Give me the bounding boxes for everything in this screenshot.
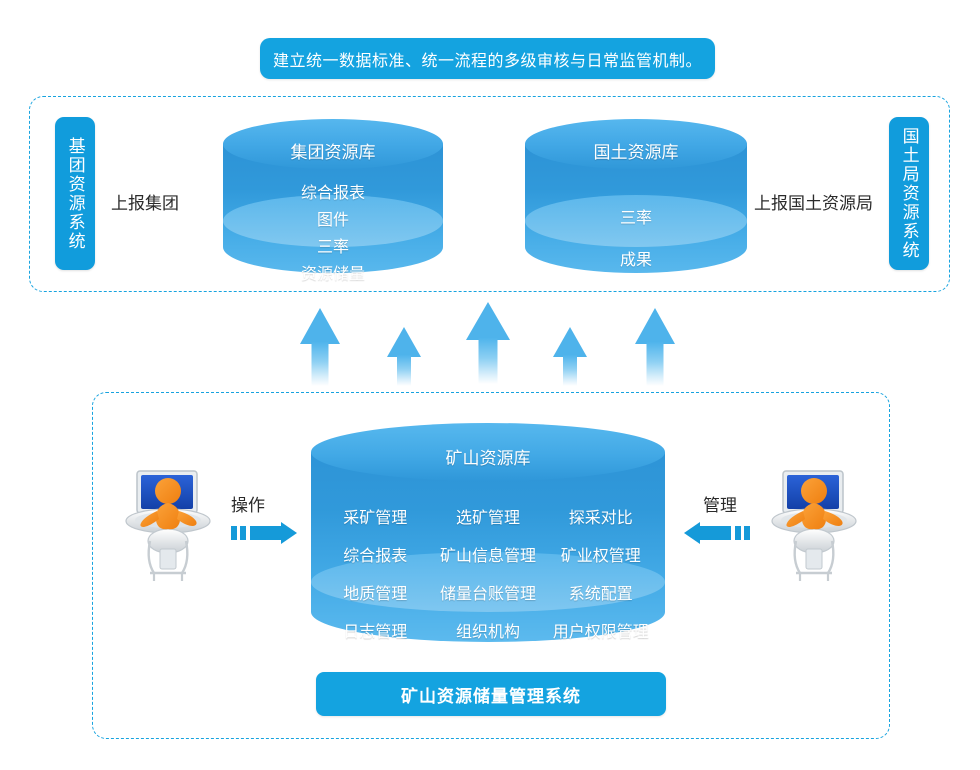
- sidebar-tab-group-resource-system[interactable]: 基团资源系统: [55, 117, 95, 270]
- user-at-computer-icon-right: [766, 465, 862, 585]
- arrow-bar: [700, 526, 731, 540]
- sidebar-tab-land-resource-system[interactable]: 国土局资源系统: [889, 117, 929, 270]
- arrow-shaft: [397, 355, 411, 386]
- cylinder-title-land: 国土资源库: [524, 138, 748, 163]
- user-at-computer-glyph: [120, 465, 216, 585]
- arrow-head-icon: [387, 327, 421, 357]
- arrow-head-icon: [466, 302, 510, 340]
- arrow-bar: [250, 526, 281, 540]
- module-item[interactable]: 日志管理: [322, 618, 428, 642]
- flow-arrow-manage: [684, 522, 750, 544]
- flow-arrow-up-2: [387, 327, 421, 386]
- arrow-head-icon: [684, 522, 700, 544]
- top-banner-text: 建立统一数据标准、统一流程的多级审核与日常监管机制。: [273, 47, 702, 71]
- module-item[interactable]: 系统配置: [548, 580, 654, 604]
- module-item[interactable]: 组织机构: [428, 618, 547, 642]
- user-at-computer-icon-left: [120, 465, 216, 585]
- module-item[interactable]: 用户权限管理: [548, 618, 654, 642]
- sidebar-tab-land-label: 国土局资源系统: [899, 127, 918, 260]
- module-item[interactable]: 采矿管理: [322, 504, 428, 528]
- arrow-dash: [744, 526, 750, 540]
- arrow-shaft: [647, 342, 664, 386]
- arrow-shaft: [563, 355, 577, 386]
- cylinder-item: 资源储量: [222, 261, 444, 288]
- module-item[interactable]: 矿业权管理: [548, 542, 654, 566]
- system-title-text: 矿山资源储量管理系统: [401, 682, 581, 707]
- user-at-computer-glyph: [766, 465, 862, 585]
- arrow-shaft: [479, 338, 498, 384]
- module-item[interactable]: 矿山信息管理: [428, 542, 547, 566]
- cylinder-item: 三率: [222, 234, 444, 261]
- flow-label-operate: 操作: [231, 491, 265, 516]
- arrow-dash: [735, 526, 741, 540]
- flow-label-report-to-group: 上报集团: [111, 189, 179, 214]
- database-cylinder-mine-resource: 矿山资源库 采矿管理 选矿管理 探采对比 综合报表 矿山信息管理 矿业权管理 地…: [310, 422, 666, 646]
- module-item[interactable]: 选矿管理: [428, 504, 547, 528]
- flow-arrow-up-1: [300, 308, 340, 386]
- flow-label-report-to-land-bureau: 上报国土资源局: [754, 189, 873, 214]
- arrow-dash: [231, 526, 237, 540]
- sidebar-tab-group-label: 基团资源系统: [65, 137, 84, 251]
- diagram-canvas: 建立统一数据标准、统一流程的多级审核与日常监管机制。 基团资源系统 国土局资源系…: [0, 0, 980, 770]
- module-grid: 采矿管理 选矿管理 探采对比 综合报表 矿山信息管理 矿业权管理 地质管理 储量…: [310, 504, 666, 642]
- module-item[interactable]: 综合报表: [322, 542, 428, 566]
- cylinder-item: 成果: [524, 240, 748, 282]
- cylinder-title-group: 集团资源库: [222, 138, 444, 163]
- database-cylinder-land-resource: 国土资源库 三率 成果: [524, 118, 748, 273]
- arrow-head-icon: [635, 308, 675, 344]
- flow-arrow-up-5: [635, 308, 675, 386]
- module-item[interactable]: 探采对比: [548, 504, 654, 528]
- arrow-head-icon: [281, 522, 297, 544]
- module-item[interactable]: 储量台账管理: [428, 580, 547, 604]
- cylinder-items-land: 三率 成果: [524, 198, 748, 282]
- arrow-head-icon: [553, 327, 587, 357]
- top-banner: 建立统一数据标准、统一流程的多级审核与日常监管机制。: [260, 38, 715, 79]
- module-grid-inner: 采矿管理 选矿管理 探采对比 综合报表 矿山信息管理 矿业权管理 地质管理 储量…: [310, 504, 666, 642]
- flow-label-manage: 管理: [703, 491, 737, 516]
- flow-arrow-up-4: [553, 327, 587, 386]
- cylinder-title-mine: 矿山资源库: [310, 444, 666, 469]
- flow-arrow-operate: [231, 522, 297, 544]
- cylinder-item: 综合报表: [222, 180, 444, 207]
- module-item[interactable]: 地质管理: [322, 580, 428, 604]
- system-title-pill: 矿山资源储量管理系统: [316, 672, 666, 716]
- cylinder-item: 三率: [524, 198, 748, 240]
- cylinder-items-group: 综合报表 图件 三率 资源储量: [222, 180, 444, 288]
- arrow-head-icon: [300, 308, 340, 344]
- database-cylinder-group-resource: 集团资源库 综合报表 图件 三率 资源储量: [222, 118, 444, 273]
- flow-arrow-up-3: [466, 302, 510, 384]
- cylinder-item: 图件: [222, 207, 444, 234]
- arrow-dash: [240, 526, 246, 540]
- arrow-shaft: [312, 342, 329, 386]
